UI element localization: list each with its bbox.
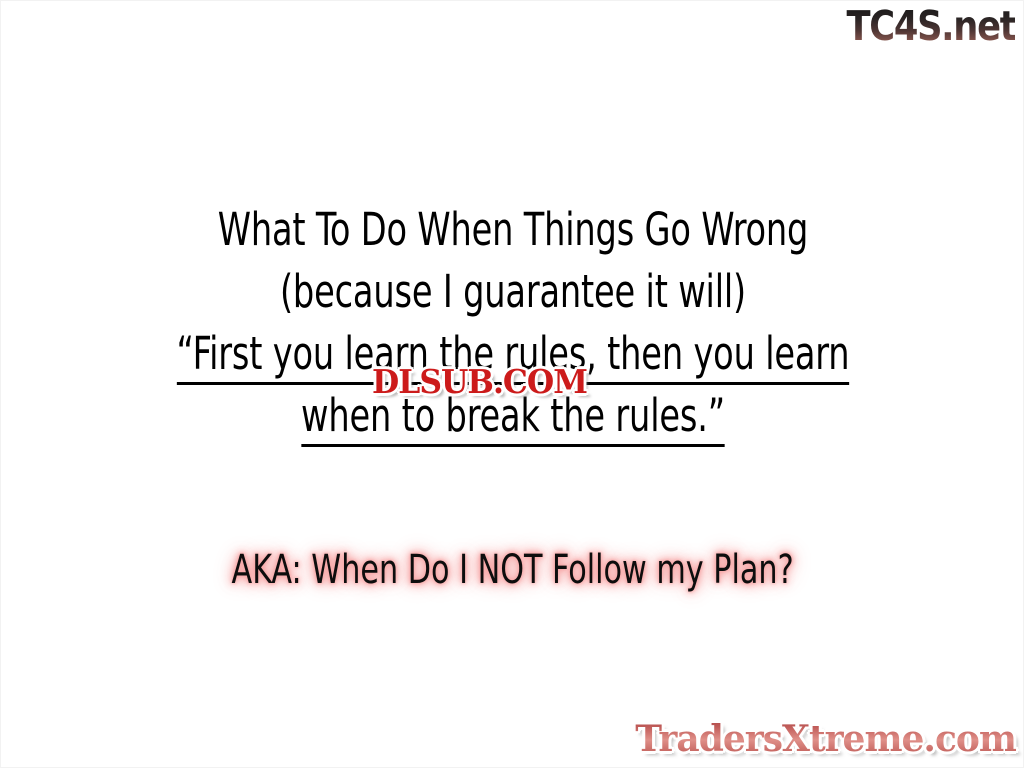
dlsub-watermark: DLSUB.COM	[372, 364, 587, 400]
tradersxtreme-fill-layer: TradersXtreme.com	[635, 718, 1016, 760]
headline-line-1-text: What To Do When Things Go Wrong	[218, 203, 808, 256]
headline-line-2-text: (because I guarantee it will)	[280, 265, 746, 318]
subtitle-line: AKA: When Do I NOT Follow my Plan?	[1, 545, 1024, 595]
subtitle-text: AKA: When Do I NOT Follow my Plan?	[232, 545, 794, 595]
main-text-block: What To Do When Things Go Wrong (because…	[1, 199, 1024, 447]
tc4s-brand-logo: TC4S.net	[846, 3, 1015, 49]
headline-line-1: What To Do When Things Go Wrong	[88, 199, 938, 261]
tradersxtreme-brand-logo: TradersXtreme.com TradersXtreme.com	[635, 717, 1016, 761]
slide-canvas: TC4S.net What To Do When Things Go Wrong…	[0, 0, 1024, 768]
headline-line-2: (because I guarantee it will)	[88, 261, 938, 323]
